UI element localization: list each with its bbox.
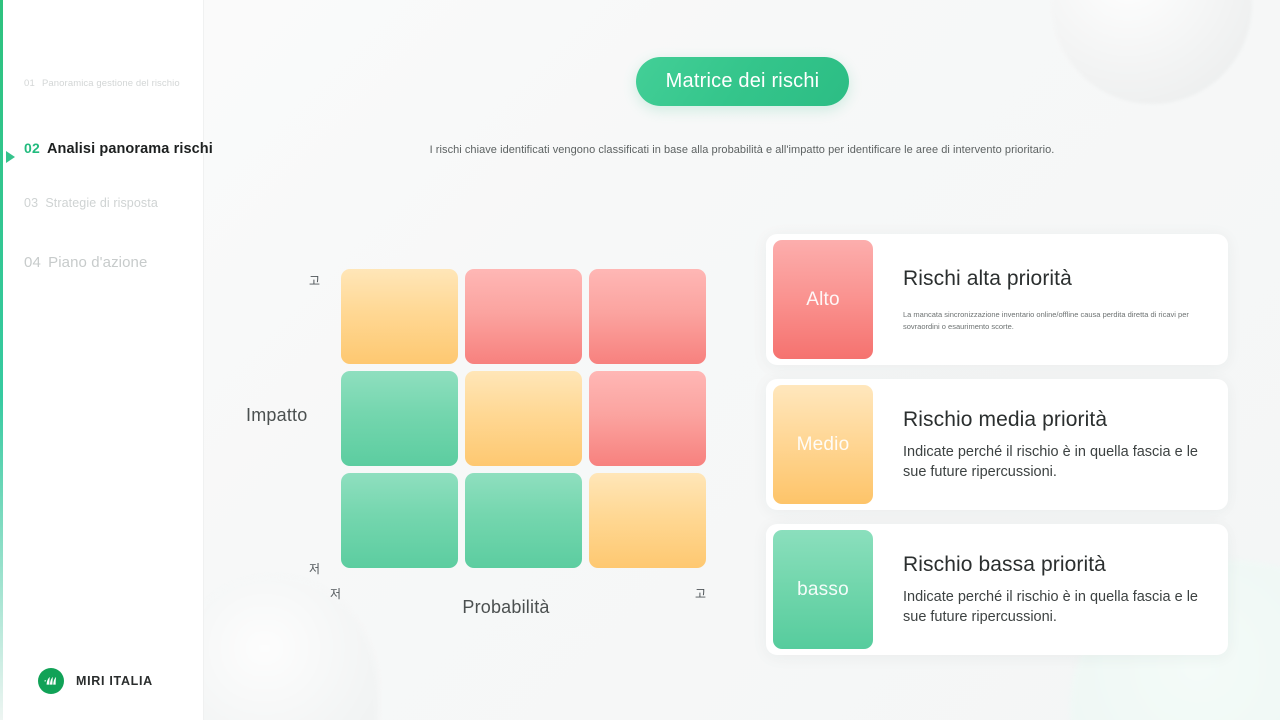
risk-card-title: Rischi alta priorità bbox=[903, 267, 1210, 291]
matrix-cell-r2c1[interactable] bbox=[341, 371, 458, 466]
sidebar-item-analisi[interactable]: 02 Analisi panorama rischi bbox=[0, 140, 204, 174]
matrix-grid bbox=[341, 269, 706, 568]
sidebar-item-label: Panoramica gestione del rischio bbox=[42, 78, 180, 89]
risk-card-body: Rischi alta priorità La mancata sincroni… bbox=[873, 234, 1228, 365]
matrix-cell-r2c3[interactable] bbox=[589, 371, 706, 466]
risk-card-description: Indicate perché il rischio è in quella f… bbox=[903, 442, 1210, 482]
sidebar-item-number: 04 bbox=[24, 254, 41, 271]
risk-badge-alto: Alto bbox=[773, 240, 873, 359]
section-nav: 01 Panoramica gestione del rischio 02 An… bbox=[0, 78, 204, 288]
active-arrow-icon bbox=[6, 151, 15, 163]
matrix-cell-r3c1[interactable] bbox=[341, 473, 458, 568]
page-title-pill: Matrice dei rischi bbox=[636, 57, 849, 106]
y-axis-low-tick: 저 bbox=[309, 560, 320, 577]
miri-logo-icon bbox=[38, 668, 64, 694]
risk-badge-medio: Medio bbox=[773, 385, 873, 504]
risk-card-media[interactable]: Medio Rischio media priorità Indicate pe… bbox=[766, 379, 1228, 510]
risk-card-body: Rischio bassa priorità Indicate perché i… bbox=[873, 524, 1228, 655]
risk-card-title: Rischio media priorità bbox=[903, 408, 1210, 432]
matrix-cell-r3c3[interactable] bbox=[589, 473, 706, 568]
sidebar: 01 Panoramica gestione del rischio 02 An… bbox=[0, 0, 204, 720]
brand-name: MIRI ITALIA bbox=[76, 674, 153, 688]
matrix-cell-r1c2[interactable] bbox=[465, 269, 582, 364]
risk-cards-list: Alto Rischi alta priorità La mancata sin… bbox=[766, 234, 1228, 669]
sidebar-item-number: 01 bbox=[24, 78, 35, 89]
decorative-sphere-top-right bbox=[1052, 0, 1252, 104]
x-axis-high-tick: 고 bbox=[695, 585, 706, 602]
y-axis-label: Impatto bbox=[246, 405, 307, 426]
sidebar-item-number: 03 bbox=[24, 196, 38, 210]
risk-card-description: La mancata sincronizzazione inventario o… bbox=[903, 309, 1210, 332]
risk-card-body: Rischio media priorità Indicate perché i… bbox=[873, 379, 1228, 510]
slide-root: 01 Panoramica gestione del rischio 02 An… bbox=[0, 0, 1280, 720]
risk-badge-label: Alto bbox=[806, 289, 840, 311]
sidebar-item-label: Piano d'azione bbox=[48, 254, 147, 271]
sidebar-item-label: Analisi panorama rischi bbox=[47, 141, 213, 157]
y-axis-high-tick: 고 bbox=[309, 272, 320, 289]
risk-badge-label: Medio bbox=[797, 434, 850, 456]
matrix-cell-r2c2[interactable] bbox=[465, 371, 582, 466]
x-axis-low-tick: 저 bbox=[330, 585, 341, 602]
sidebar-item-number: 02 bbox=[24, 140, 40, 156]
sidebar-item-piano[interactable]: 04 Piano d'azione bbox=[0, 254, 204, 288]
matrix-cell-r1c3[interactable] bbox=[589, 269, 706, 364]
sidebar-item-panoramica[interactable]: 01 Panoramica gestione del rischio bbox=[0, 78, 204, 112]
risk-badge-basso: basso bbox=[773, 530, 873, 649]
footer-brand: MIRI ITALIA bbox=[38, 668, 153, 694]
sidebar-item-label: Strategie di risposta bbox=[45, 196, 158, 210]
risk-badge-label: basso bbox=[797, 579, 849, 601]
x-axis-label: Probabilità bbox=[386, 597, 626, 618]
page-subtitle: I rischi chiave identificati vengono cla… bbox=[204, 144, 1280, 156]
risk-card-bassa[interactable]: basso Rischio bassa priorità Indicate pe… bbox=[766, 524, 1228, 655]
page-title: Matrice dei rischi bbox=[666, 70, 820, 93]
matrix-cell-r1c1[interactable] bbox=[341, 269, 458, 364]
risk-card-alta[interactable]: Alto Rischi alta priorità La mancata sin… bbox=[766, 234, 1228, 365]
risk-card-description: Indicate perché il rischio è in quella f… bbox=[903, 587, 1210, 627]
matrix-cell-r3c2[interactable] bbox=[465, 473, 582, 568]
sidebar-item-strategie[interactable]: 03 Strategie di risposta bbox=[0, 196, 204, 230]
risk-card-title: Rischio bassa priorità bbox=[903, 553, 1210, 577]
